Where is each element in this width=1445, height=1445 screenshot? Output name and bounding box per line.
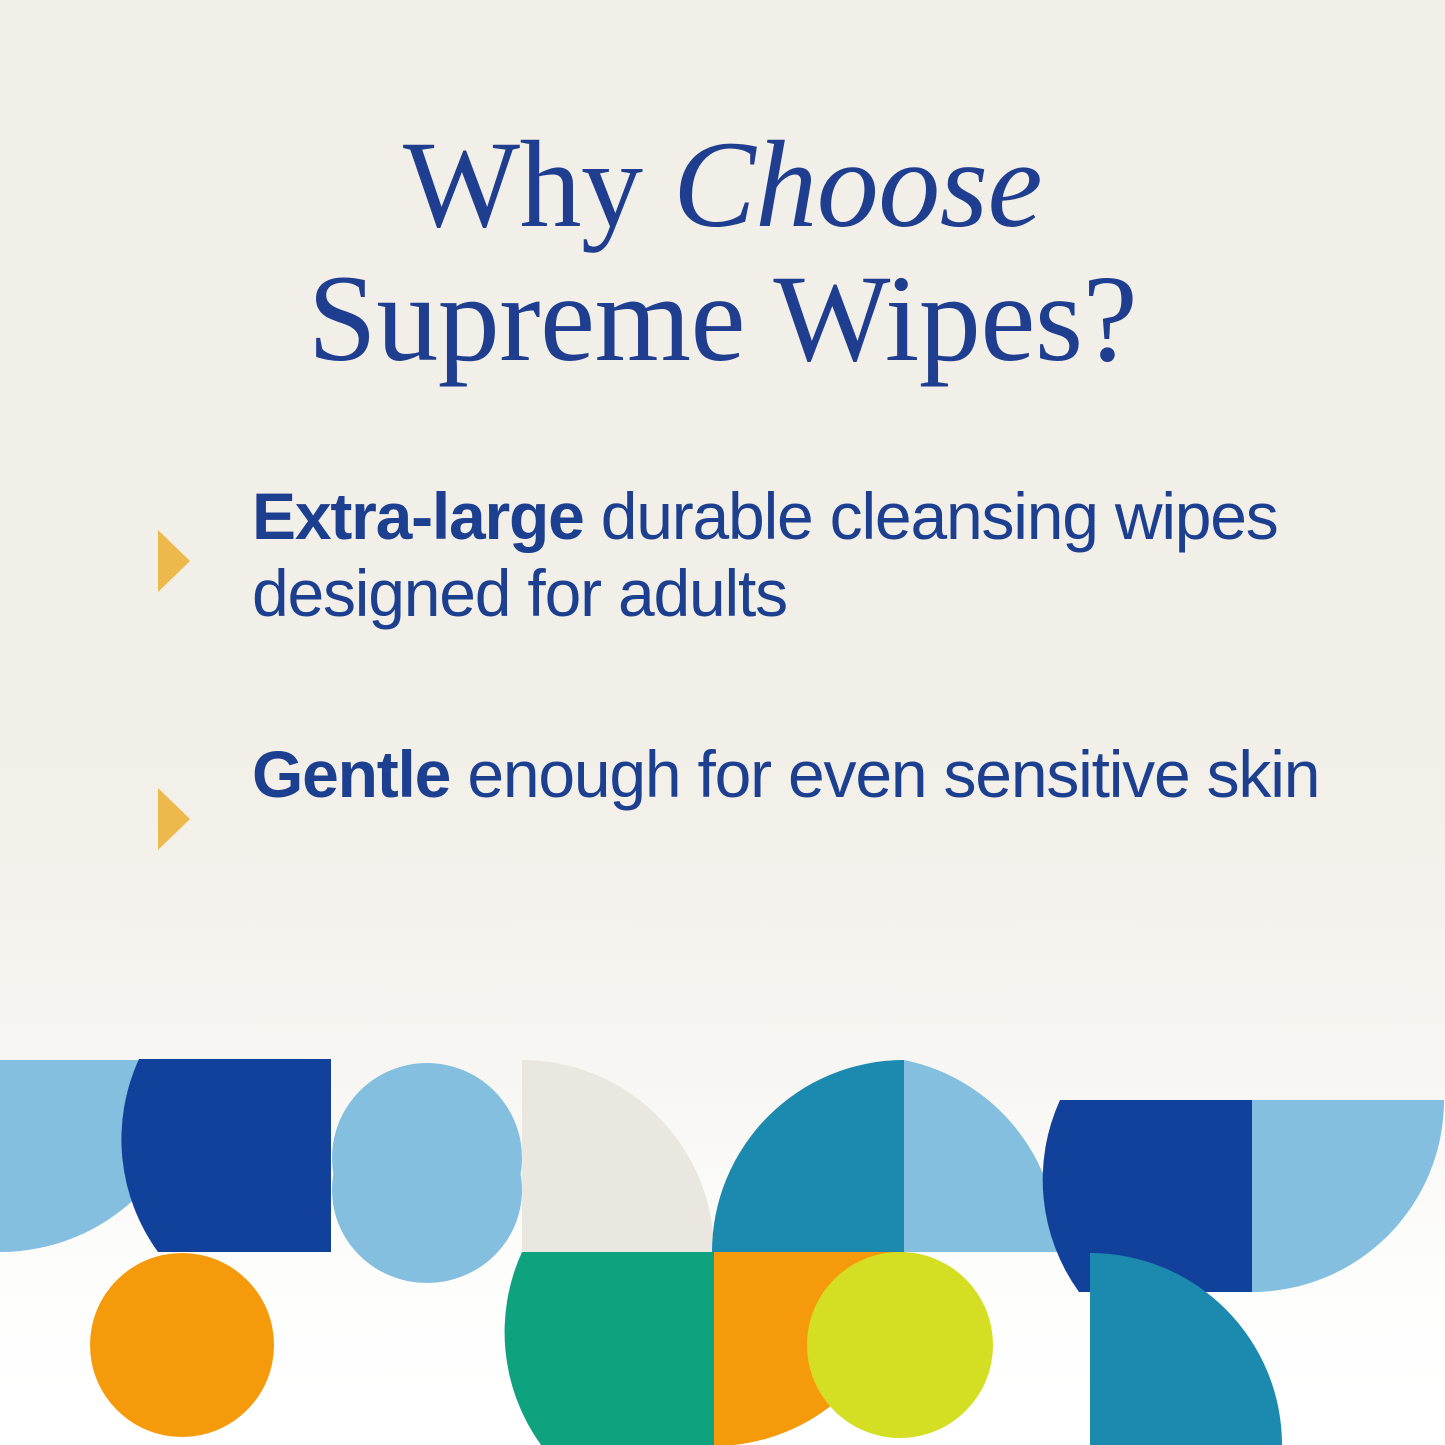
light-blue-bowl-top — [1252, 1100, 1444, 1106]
triangle-right-icon — [150, 788, 190, 850]
light-blue-circle-body — [332, 1097, 522, 1283]
orange-circle — [90, 1253, 274, 1437]
teal-quarter-dome — [712, 1060, 904, 1252]
benefits-list: Extra-large durable cleansing wipes desi… — [150, 478, 1350, 954]
page-title-emphasis: Choose — [673, 116, 1042, 253]
list-item-highlight: Extra-large — [252, 479, 584, 553]
list-item-text: Extra-large durable cleansing wipes desi… — [252, 478, 1350, 632]
light-blue-quarter-dome — [904, 1060, 1058, 1252]
page-title-line-2: Supreme Wipes? — [0, 252, 1445, 386]
light-blue-bowl — [1252, 1100, 1444, 1292]
decorative-shape-band — [0, 1030, 1445, 1445]
lime-circle — [807, 1252, 993, 1438]
page-title-prefix: Why — [403, 116, 673, 253]
list-item-body: enough for even sensitive skin — [450, 737, 1319, 811]
list-item: Gentle enough for even sensitive skin — [150, 736, 1350, 850]
list-item-highlight: Gentle — [252, 737, 450, 811]
list-item: Extra-large durable cleansing wipes desi… — [150, 478, 1350, 632]
list-item-text: Gentle enough for even sensitive skin — [252, 736, 1350, 813]
dark-navy-quarter — [121, 1059, 331, 1252]
promo-poster: Why Choose Supreme Wipes? Extra-large du… — [0, 0, 1445, 1445]
page-title: Why Choose Supreme Wipes? — [0, 118, 1445, 386]
beige-quarter — [522, 1060, 714, 1252]
page-title-line-1: Why Choose — [403, 116, 1042, 253]
triangle-right-icon — [150, 530, 190, 592]
